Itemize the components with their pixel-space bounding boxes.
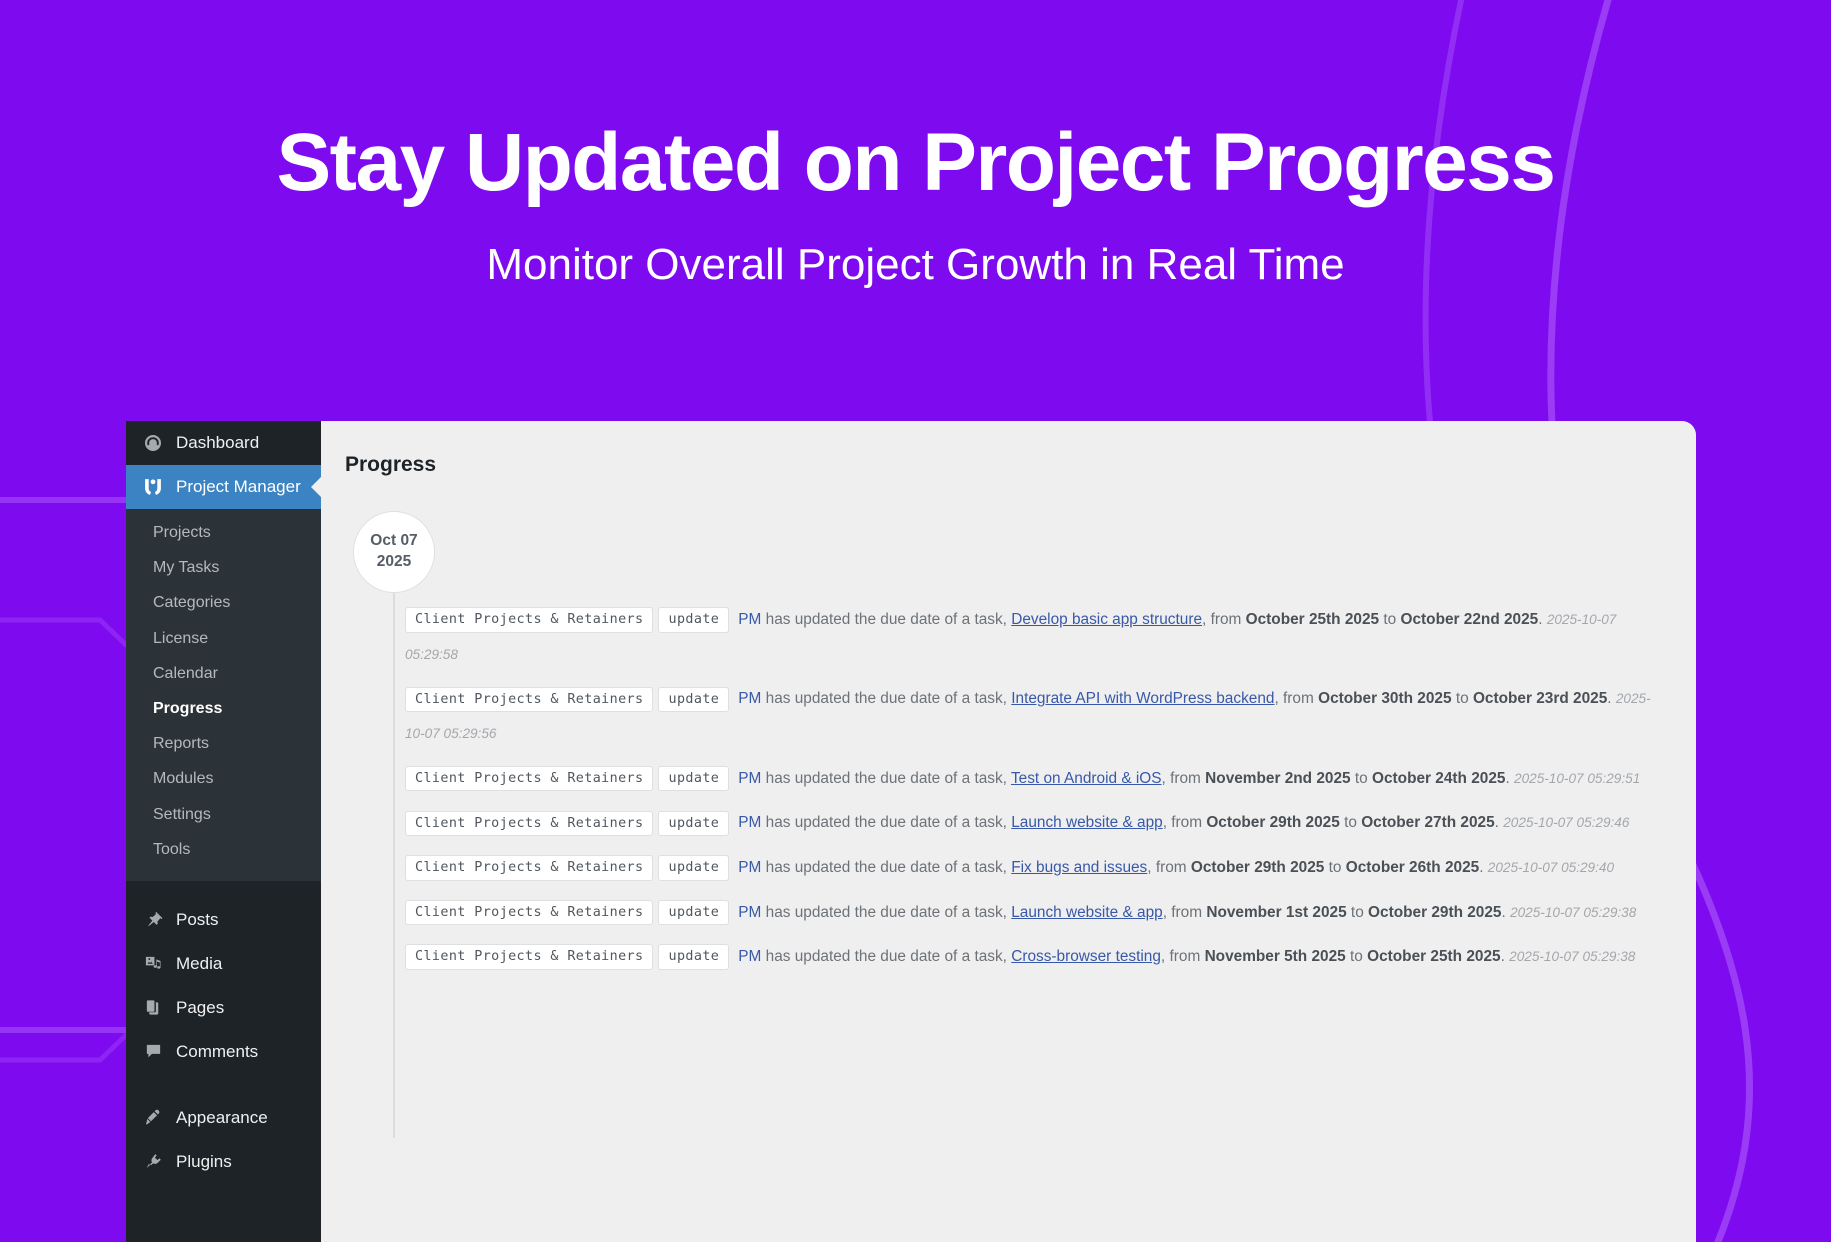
sidebar-item-settings[interactable]: Settings bbox=[126, 797, 321, 832]
to-label: to bbox=[1329, 859, 1342, 876]
sidebar-item-label: Dashboard bbox=[176, 433, 259, 453]
activity-type-chip: update bbox=[658, 944, 729, 969]
activity-type-chip: update bbox=[658, 766, 729, 791]
comment-bubble-icon bbox=[142, 1041, 164, 1063]
from-date: November 1st 2025 bbox=[1206, 904, 1346, 921]
activity-type-chip: update bbox=[658, 811, 729, 836]
from-label: from bbox=[1169, 948, 1200, 965]
to-label: to bbox=[1344, 814, 1357, 831]
project-chip[interactable]: Client Projects & Retainers bbox=[405, 900, 653, 925]
sidebar-item-label: Comments bbox=[176, 1042, 258, 1062]
project-chip[interactable]: Client Projects & Retainers bbox=[405, 811, 653, 836]
activity-type-chip: update bbox=[658, 607, 729, 632]
activity-row: Client Projects & RetainersupdatePM has … bbox=[405, 603, 1658, 682]
paint-brush-icon bbox=[142, 1107, 164, 1129]
sidebar-group-customize: Appearance Plugins bbox=[126, 1082, 321, 1192]
sidebar-item-comments[interactable]: Comments bbox=[126, 1030, 321, 1074]
activity-prefix: has updated the due date of a task, bbox=[766, 948, 1007, 965]
page-title: Stay Updated on Project Progress bbox=[0, 120, 1831, 206]
hero-section: Stay Updated on Project Progress Monitor… bbox=[0, 0, 1831, 290]
sidebar-item-calendar[interactable]: Calendar bbox=[126, 656, 321, 691]
to-date: October 22nd 2025 bbox=[1401, 611, 1539, 628]
from-date: October 29th 2025 bbox=[1206, 814, 1339, 831]
activity-timestamp: 2025-10-07 05:29:46 bbox=[1503, 815, 1629, 830]
project-manager-submenu: Projects My Tasks Categories License Cal… bbox=[126, 509, 321, 881]
activity-prefix: has updated the due date of a task, bbox=[766, 770, 1007, 787]
sidebar-item-categories[interactable]: Categories bbox=[126, 585, 321, 620]
activity-timestamp: 2025-10-07 05:29:38 bbox=[1509, 949, 1635, 964]
actor-link[interactable]: PM bbox=[738, 690, 761, 707]
task-link[interactable]: Develop basic app structure bbox=[1011, 611, 1202, 628]
sidebar-item-dashboard[interactable]: Dashboard bbox=[126, 421, 321, 465]
pages-icon bbox=[142, 997, 164, 1019]
activity-prefix: has updated the due date of a task, bbox=[766, 690, 1007, 707]
project-chip[interactable]: Client Projects & Retainers bbox=[405, 607, 653, 632]
date-bubble: Oct 07 2025 bbox=[353, 511, 435, 593]
sidebar-item-posts[interactable]: Posts bbox=[126, 898, 321, 942]
sidebar-item-media[interactable]: Media bbox=[126, 942, 321, 986]
to-label: to bbox=[1383, 611, 1396, 628]
actor-link[interactable]: PM bbox=[738, 814, 761, 831]
project-manager-icon bbox=[142, 476, 164, 498]
sidebar-item-my-tasks[interactable]: My Tasks bbox=[126, 550, 321, 585]
activity-prefix: has updated the due date of a task, bbox=[766, 611, 1007, 628]
actor-link[interactable]: PM bbox=[738, 904, 761, 921]
project-chip[interactable]: Client Projects & Retainers bbox=[405, 855, 653, 880]
sidebar-item-progress[interactable]: Progress bbox=[126, 691, 321, 726]
pin-icon bbox=[142, 909, 164, 931]
sidebar-item-label: Appearance bbox=[176, 1108, 268, 1128]
from-label: from bbox=[1156, 859, 1187, 876]
activity-timestamp: 2025-10-07 05:29:51 bbox=[1514, 771, 1640, 786]
task-link[interactable]: Fix bugs and issues bbox=[1011, 859, 1147, 876]
activity-type-chip: update bbox=[658, 687, 729, 712]
promo-banner: Stay Updated on Project Progress Monitor… bbox=[0, 0, 1831, 1242]
activity-prefix: has updated the due date of a task, bbox=[766, 904, 1007, 921]
date-bubble-monthday: Oct 07 bbox=[370, 531, 417, 552]
to-date: October 26th 2025 bbox=[1346, 859, 1479, 876]
activity-row: Client Projects & RetainersupdatePM has … bbox=[405, 682, 1658, 761]
progress-heading: Progress bbox=[345, 453, 1658, 477]
to-date: October 25th 2025 bbox=[1367, 948, 1500, 965]
sidebar-item-label: Project Manager bbox=[176, 477, 301, 497]
page-subtitle: Monitor Overall Project Growth in Real T… bbox=[0, 240, 1831, 290]
activity-row: Client Projects & RetainersupdatePM has … bbox=[405, 896, 1658, 941]
sidebar-item-pages[interactable]: Pages bbox=[126, 986, 321, 1030]
from-date: November 5th 2025 bbox=[1205, 948, 1346, 965]
sidebar-item-appearance[interactable]: Appearance bbox=[126, 1096, 321, 1140]
task-link[interactable]: Integrate API with WordPress backend bbox=[1011, 690, 1274, 707]
activity-prefix: has updated the due date of a task, bbox=[766, 814, 1007, 831]
to-label: to bbox=[1355, 770, 1368, 787]
sidebar-divider bbox=[126, 881, 321, 890]
active-arrow-icon bbox=[311, 476, 321, 498]
plug-icon bbox=[142, 1151, 164, 1173]
to-date: October 23rd 2025 bbox=[1473, 690, 1607, 707]
actor-link[interactable]: PM bbox=[738, 611, 761, 628]
from-date: October 30th 2025 bbox=[1318, 690, 1451, 707]
progress-page: Progress Oct 07 2025 Client Projects & R… bbox=[321, 421, 1696, 1242]
activity-list: Client Projects & RetainersupdatePM has … bbox=[405, 511, 1658, 985]
to-label: to bbox=[1351, 904, 1364, 921]
sidebar-item-project-manager[interactable]: Project Manager bbox=[126, 465, 321, 509]
sidebar-item-label: Plugins bbox=[176, 1152, 232, 1172]
sidebar-group-content: Posts Media bbox=[126, 890, 321, 1082]
activity-timestamp: 2025-10-07 05:29:38 bbox=[1510, 905, 1636, 920]
to-date: October 24th 2025 bbox=[1372, 770, 1505, 787]
activity-type-chip: update bbox=[658, 900, 729, 925]
activity-prefix: has updated the due date of a task, bbox=[766, 859, 1007, 876]
project-chip[interactable]: Client Projects & Retainers bbox=[405, 944, 653, 969]
activity-timeline: Oct 07 2025 Client Projects & Retainersu… bbox=[345, 511, 1658, 985]
project-chip[interactable]: Client Projects & Retainers bbox=[405, 687, 653, 712]
to-date: October 29th 2025 bbox=[1368, 904, 1501, 921]
sidebar-item-label: Posts bbox=[176, 910, 219, 930]
activity-timestamp: 2025-10-07 05:29:40 bbox=[1488, 860, 1614, 875]
from-date: November 2nd 2025 bbox=[1205, 770, 1350, 787]
sidebar-item-license[interactable]: License bbox=[126, 621, 321, 656]
task-link[interactable]: Test on Android & iOS bbox=[1011, 770, 1162, 787]
from-label: from bbox=[1170, 770, 1201, 787]
sidebar-item-label: Media bbox=[176, 954, 222, 974]
from-label: from bbox=[1171, 814, 1202, 831]
task-link[interactable]: Launch website & app bbox=[1011, 814, 1162, 831]
to-label: to bbox=[1350, 948, 1363, 965]
sidebar-item-projects[interactable]: Projects bbox=[126, 515, 321, 550]
activity-type-chip: update bbox=[658, 855, 729, 880]
timeline-rail bbox=[393, 593, 395, 1138]
sidebar-item-plugins[interactable]: Plugins bbox=[126, 1140, 321, 1184]
project-chip[interactable]: Client Projects & Retainers bbox=[405, 766, 653, 791]
from-date: October 25th 2025 bbox=[1246, 611, 1379, 628]
to-date: October 27th 2025 bbox=[1361, 814, 1494, 831]
from-label: from bbox=[1171, 904, 1202, 921]
activity-row: Client Projects & RetainersupdatePM has … bbox=[405, 940, 1658, 985]
admin-sidebar: Dashboard Project Manager Projects My Ta… bbox=[126, 421, 321, 1242]
task-link[interactable]: Launch website & app bbox=[1011, 904, 1162, 921]
sidebar-item-reports[interactable]: Reports bbox=[126, 726, 321, 761]
from-label: from bbox=[1211, 611, 1242, 628]
date-bubble-year: 2025 bbox=[377, 552, 411, 573]
from-date: October 29th 2025 bbox=[1191, 859, 1324, 876]
sidebar-item-tools[interactable]: Tools bbox=[126, 832, 321, 867]
sidebar-item-modules[interactable]: Modules bbox=[126, 761, 321, 796]
dashboard-gauge-icon bbox=[142, 432, 164, 454]
actor-link[interactable]: PM bbox=[738, 770, 761, 787]
actor-link[interactable]: PM bbox=[738, 948, 761, 965]
actor-link[interactable]: PM bbox=[738, 859, 761, 876]
media-icon bbox=[142, 953, 164, 975]
activity-row: Client Projects & RetainersupdatePM has … bbox=[405, 762, 1658, 807]
activity-row: Client Projects & RetainersupdatePM has … bbox=[405, 806, 1658, 851]
task-link[interactable]: Cross-browser testing bbox=[1011, 948, 1161, 965]
sidebar-item-label: Pages bbox=[176, 998, 224, 1018]
from-label: from bbox=[1283, 690, 1314, 707]
activity-row: Client Projects & RetainersupdatePM has … bbox=[405, 851, 1658, 896]
to-label: to bbox=[1456, 690, 1469, 707]
wordpress-admin-window: Dashboard Project Manager Projects My Ta… bbox=[126, 421, 1696, 1242]
